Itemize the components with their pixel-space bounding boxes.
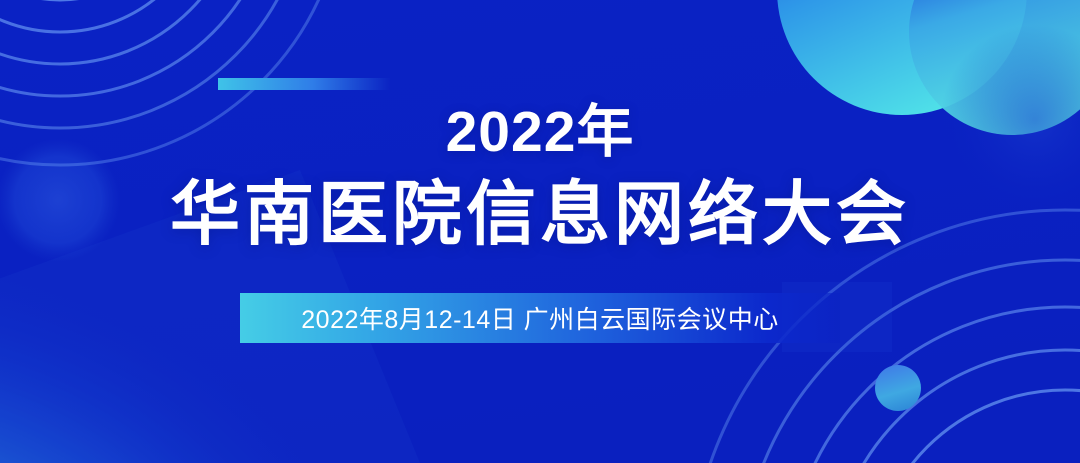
banner-main-title: 华南医院信息网络大会 xyxy=(0,178,1080,252)
conference-banner: 2022年 华南医院信息网络大会 2022年8月12-14日 广州白云国际会议中… xyxy=(0,0,1080,463)
banner-year: 2022年 xyxy=(0,104,1080,161)
banner-subtitle-bar: 2022年8月12-14日 广州白云国际会议中心 xyxy=(240,293,840,343)
banner-subtitle-text: 2022年8月12-14日 广州白云国际会议中心 xyxy=(301,300,778,336)
accent-bar xyxy=(218,78,390,90)
banner-content: 2022年 华南医院信息网络大会 2022年8月12-14日 广州白云国际会议中… xyxy=(0,0,1080,463)
